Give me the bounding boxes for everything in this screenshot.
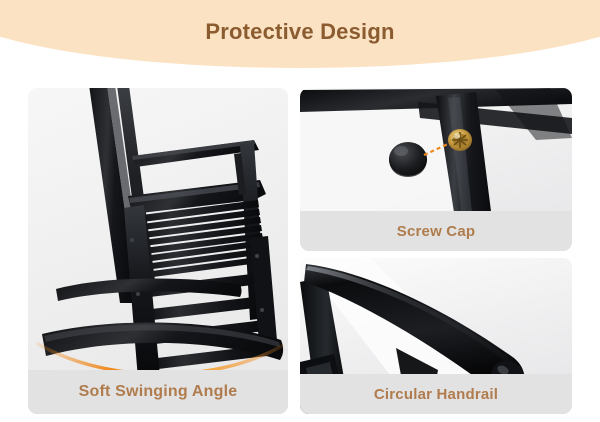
caption-circular-handrail: Circular Handrail xyxy=(300,374,572,414)
panel-soft-swinging-angle: Soft Swinging Angle xyxy=(28,88,288,414)
panel-circular-handrail: Circular Handrail xyxy=(300,258,572,414)
caption-soft-swinging-angle: Soft Swinging Angle xyxy=(28,370,288,414)
panel-screw-cap: Screw Cap xyxy=(300,88,572,251)
page-title: Protective Design xyxy=(0,19,600,45)
caption-screw-cap: Screw Cap xyxy=(300,211,572,251)
rubber-screw-cap xyxy=(389,142,427,177)
brass-screw-head xyxy=(448,129,472,151)
header-banner: Protective Design xyxy=(0,0,600,84)
rocking-chair-illustration xyxy=(28,88,288,414)
rocking-chair-photo xyxy=(28,88,288,414)
